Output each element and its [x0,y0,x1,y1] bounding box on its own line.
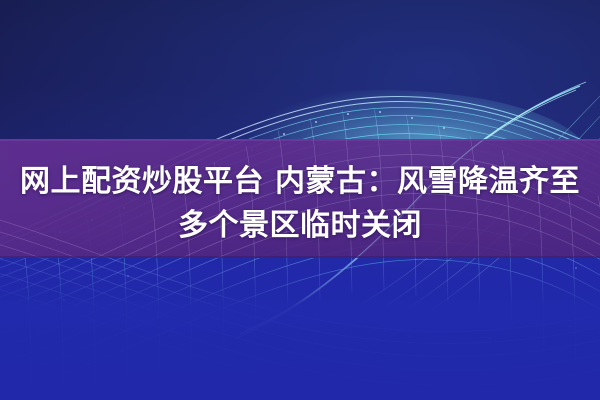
band-bottom-edge [0,256,600,258]
news-banner: 网上配资炒股平台 内蒙古：风雪降温齐至 多个景区临时关闭 [0,0,600,400]
band-top-edge [0,139,600,141]
headline-text: 网上配资炒股平台 内蒙古：风雪降温齐至 多个景区临时关闭 [0,160,600,248]
